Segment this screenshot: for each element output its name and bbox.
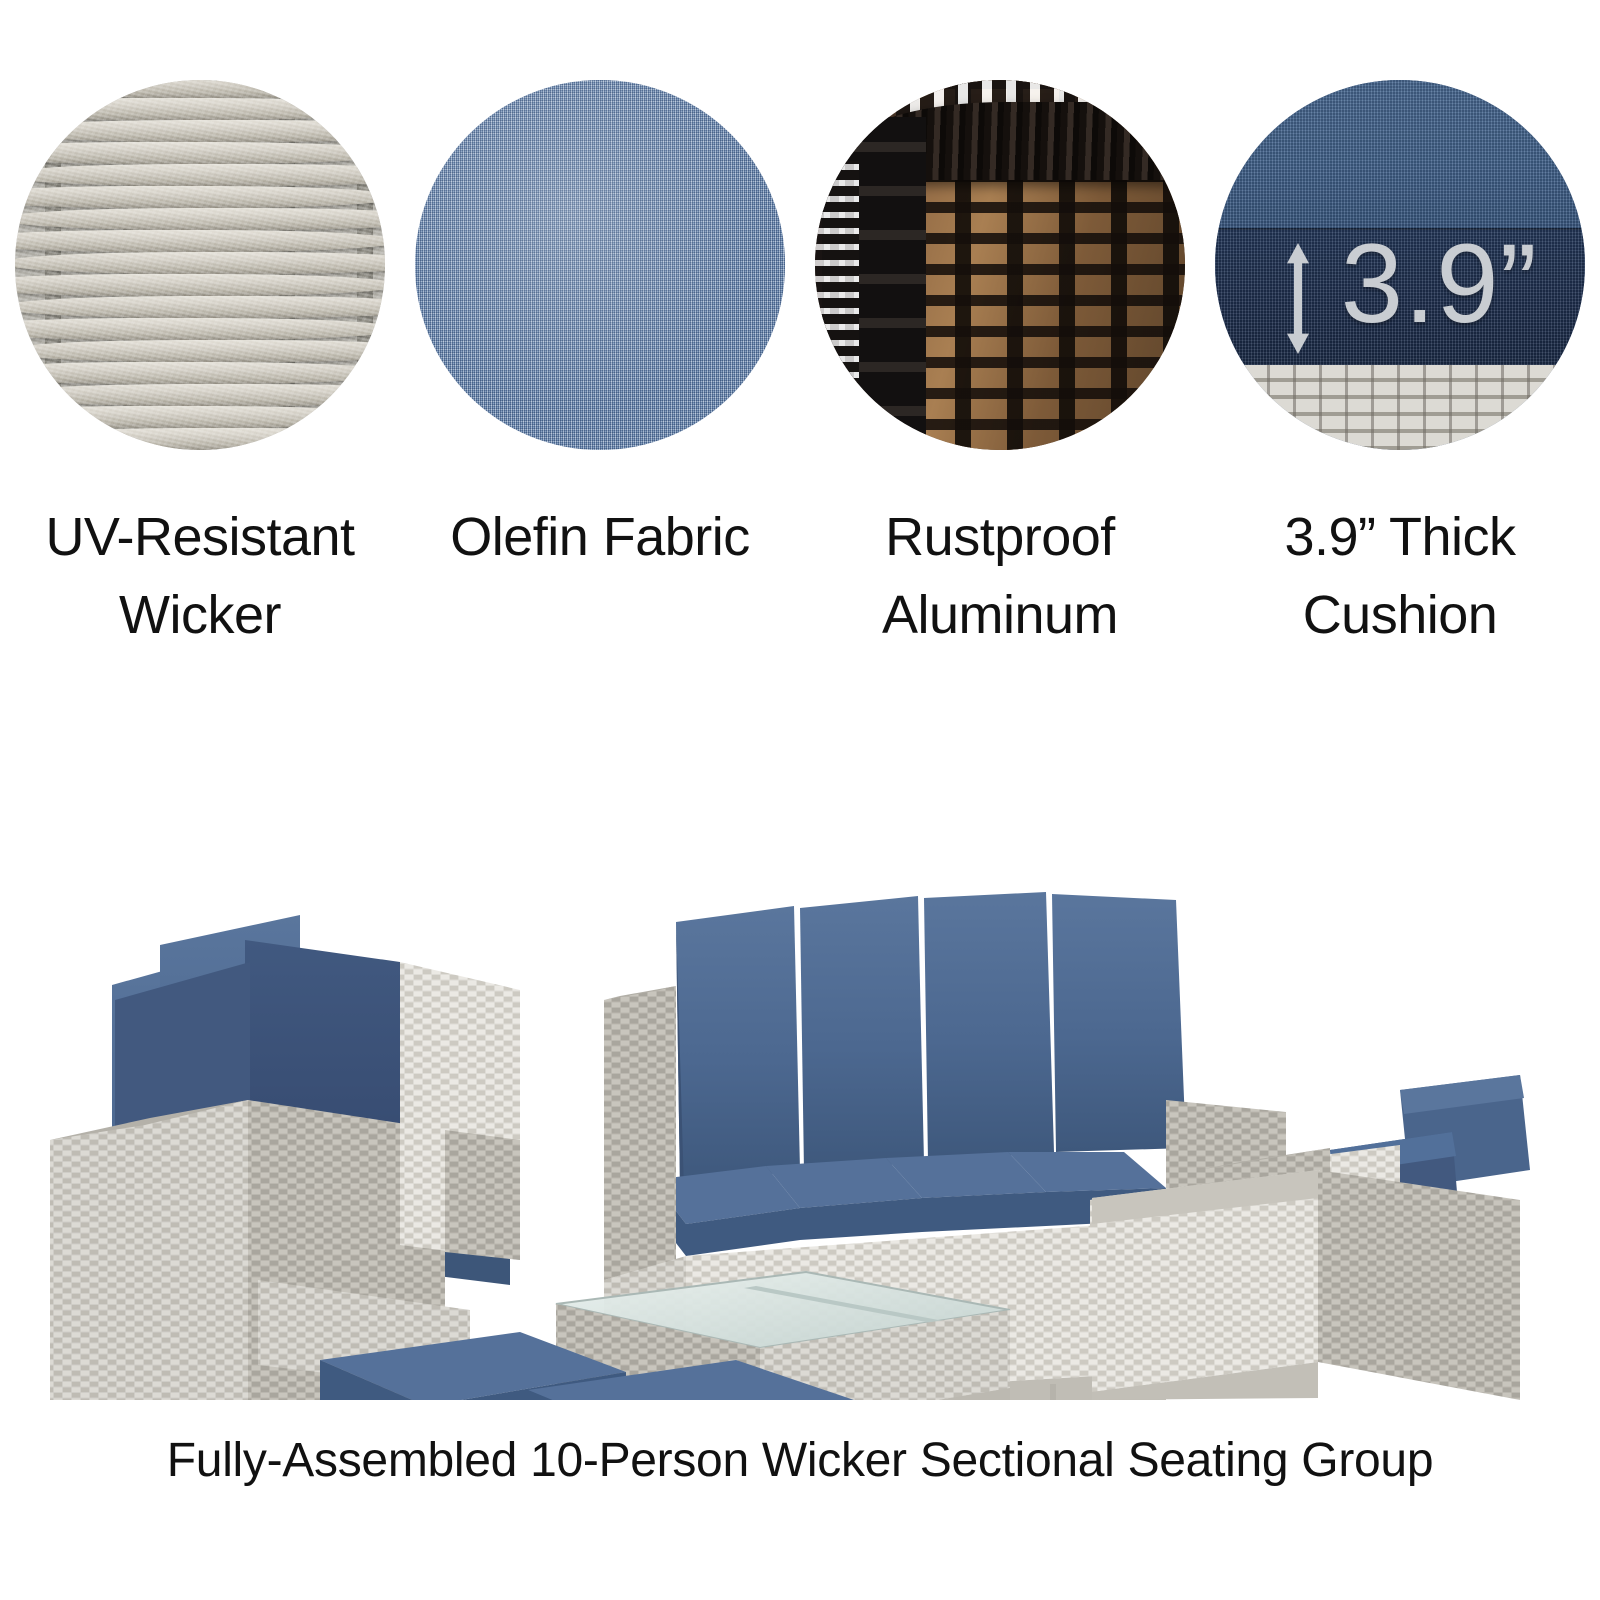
product-illustration <box>0 700 1600 1400</box>
wicker-grain-overlay <box>15 80 385 450</box>
feature-label-thick-cushion: 3.9” Thick Cushion <box>1284 498 1515 654</box>
feature-olefin-fabric: Olefin Fabric <box>400 0 800 690</box>
feature-highlights-row: UV-Resistant Wicker Olefin Fabric Rustpr… <box>0 0 1600 690</box>
cushion-thickness-callout: 3.9” <box>1341 228 1538 340</box>
fabric-sheen-overlay <box>415 80 785 450</box>
feature-rustproof-aluminum: Rustproof Aluminum <box>800 0 1200 690</box>
product-caption: Fully-Assembled 10-Person Wicker Section… <box>0 1400 1600 1520</box>
feature-thick-cushion: 3.9” 3.9” Thick Cushion <box>1200 0 1600 690</box>
loveseat-piece <box>50 915 520 1400</box>
blue-olefin-fabric-swatch <box>415 80 785 450</box>
feature-uv-resistant-wicker: UV-Resistant Wicker <box>0 0 400 690</box>
product-caption-text: Fully-Assembled 10-Person Wicker Section… <box>167 1433 1433 1488</box>
dark-wicker-aluminum-frame-swatch <box>815 80 1185 450</box>
double-headed-vertical-arrow-icon <box>1285 243 1311 354</box>
navy-cushion-thickness-swatch: 3.9” <box>1215 80 1585 450</box>
feature-label-uv-resistant-wicker: UV-Resistant Wicker <box>45 498 354 654</box>
grey-wicker-swatch <box>15 80 385 450</box>
wicker-base-under-cushion <box>1215 365 1585 450</box>
open-lattice-mesh <box>815 161 859 420</box>
feature-label-olefin-fabric: Olefin Fabric <box>450 498 750 576</box>
feature-label-rustproof-aluminum: Rustproof Aluminum <box>882 498 1118 654</box>
wicker-sectional-seating-group-photo <box>0 700 1600 1400</box>
